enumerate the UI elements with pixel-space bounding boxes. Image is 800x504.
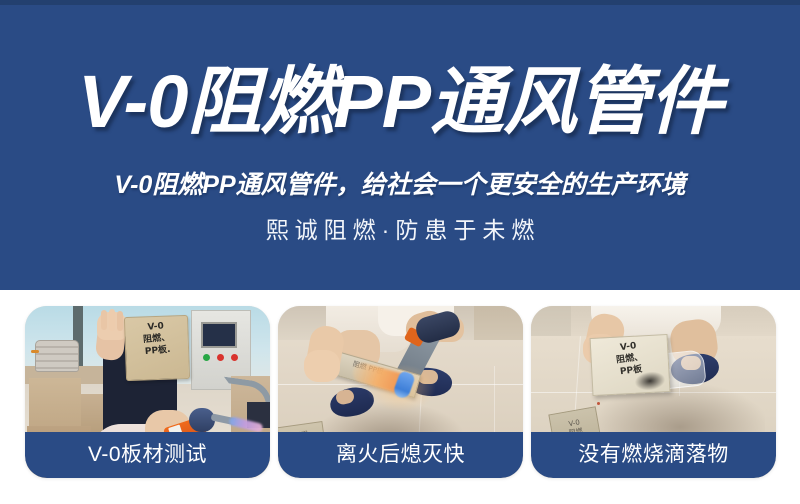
- card-caption: V-0板材测试: [25, 432, 270, 478]
- banner-content: V-0阻燃PP通风管件 V-0阻燃PP通风管件，给社会一个更安全的生产环境 熙诚…: [0, 5, 800, 290]
- page-title: V-0阻燃PP通风管件: [0, 60, 800, 144]
- card-caption: 离火后熄灭快: [278, 432, 523, 478]
- handwritten-sign: V-0阻燃、PP板.: [124, 315, 190, 381]
- feature-card-row: V-0阻燃、PP板. V-0板材测试: [0, 290, 800, 504]
- hero-subtitle: V-0阻燃PP通风管件，给社会一个更安全的生产环境: [0, 169, 800, 201]
- hero-tagline: 熙诚阻燃·防患于未燃: [0, 215, 800, 245]
- feature-card[interactable]: V-0阻燃、PP板 V-0阻燃PP板 没有燃烧滴落物: [531, 306, 776, 478]
- feature-card[interactable]: V-0阻燃、PP板. V-0板材测试: [25, 306, 270, 478]
- handwritten-sign-text: V-0阻燃、PP板.: [124, 318, 189, 359]
- promo-banner-page: V-0阻燃PP通风管件 V-0阻燃PP通风管件，给社会一个更安全的生产环境 熙诚…: [0, 0, 800, 504]
- feature-card[interactable]: 阻燃 PP板 阻燃PP板 离火后熄灭快: [278, 306, 523, 478]
- hero-banner: V-0阻燃PP通风管件 V-0阻燃PP通风管件，给社会一个更安全的生产环境 熙诚…: [0, 0, 800, 290]
- card-caption: 没有燃烧滴落物: [531, 432, 776, 478]
